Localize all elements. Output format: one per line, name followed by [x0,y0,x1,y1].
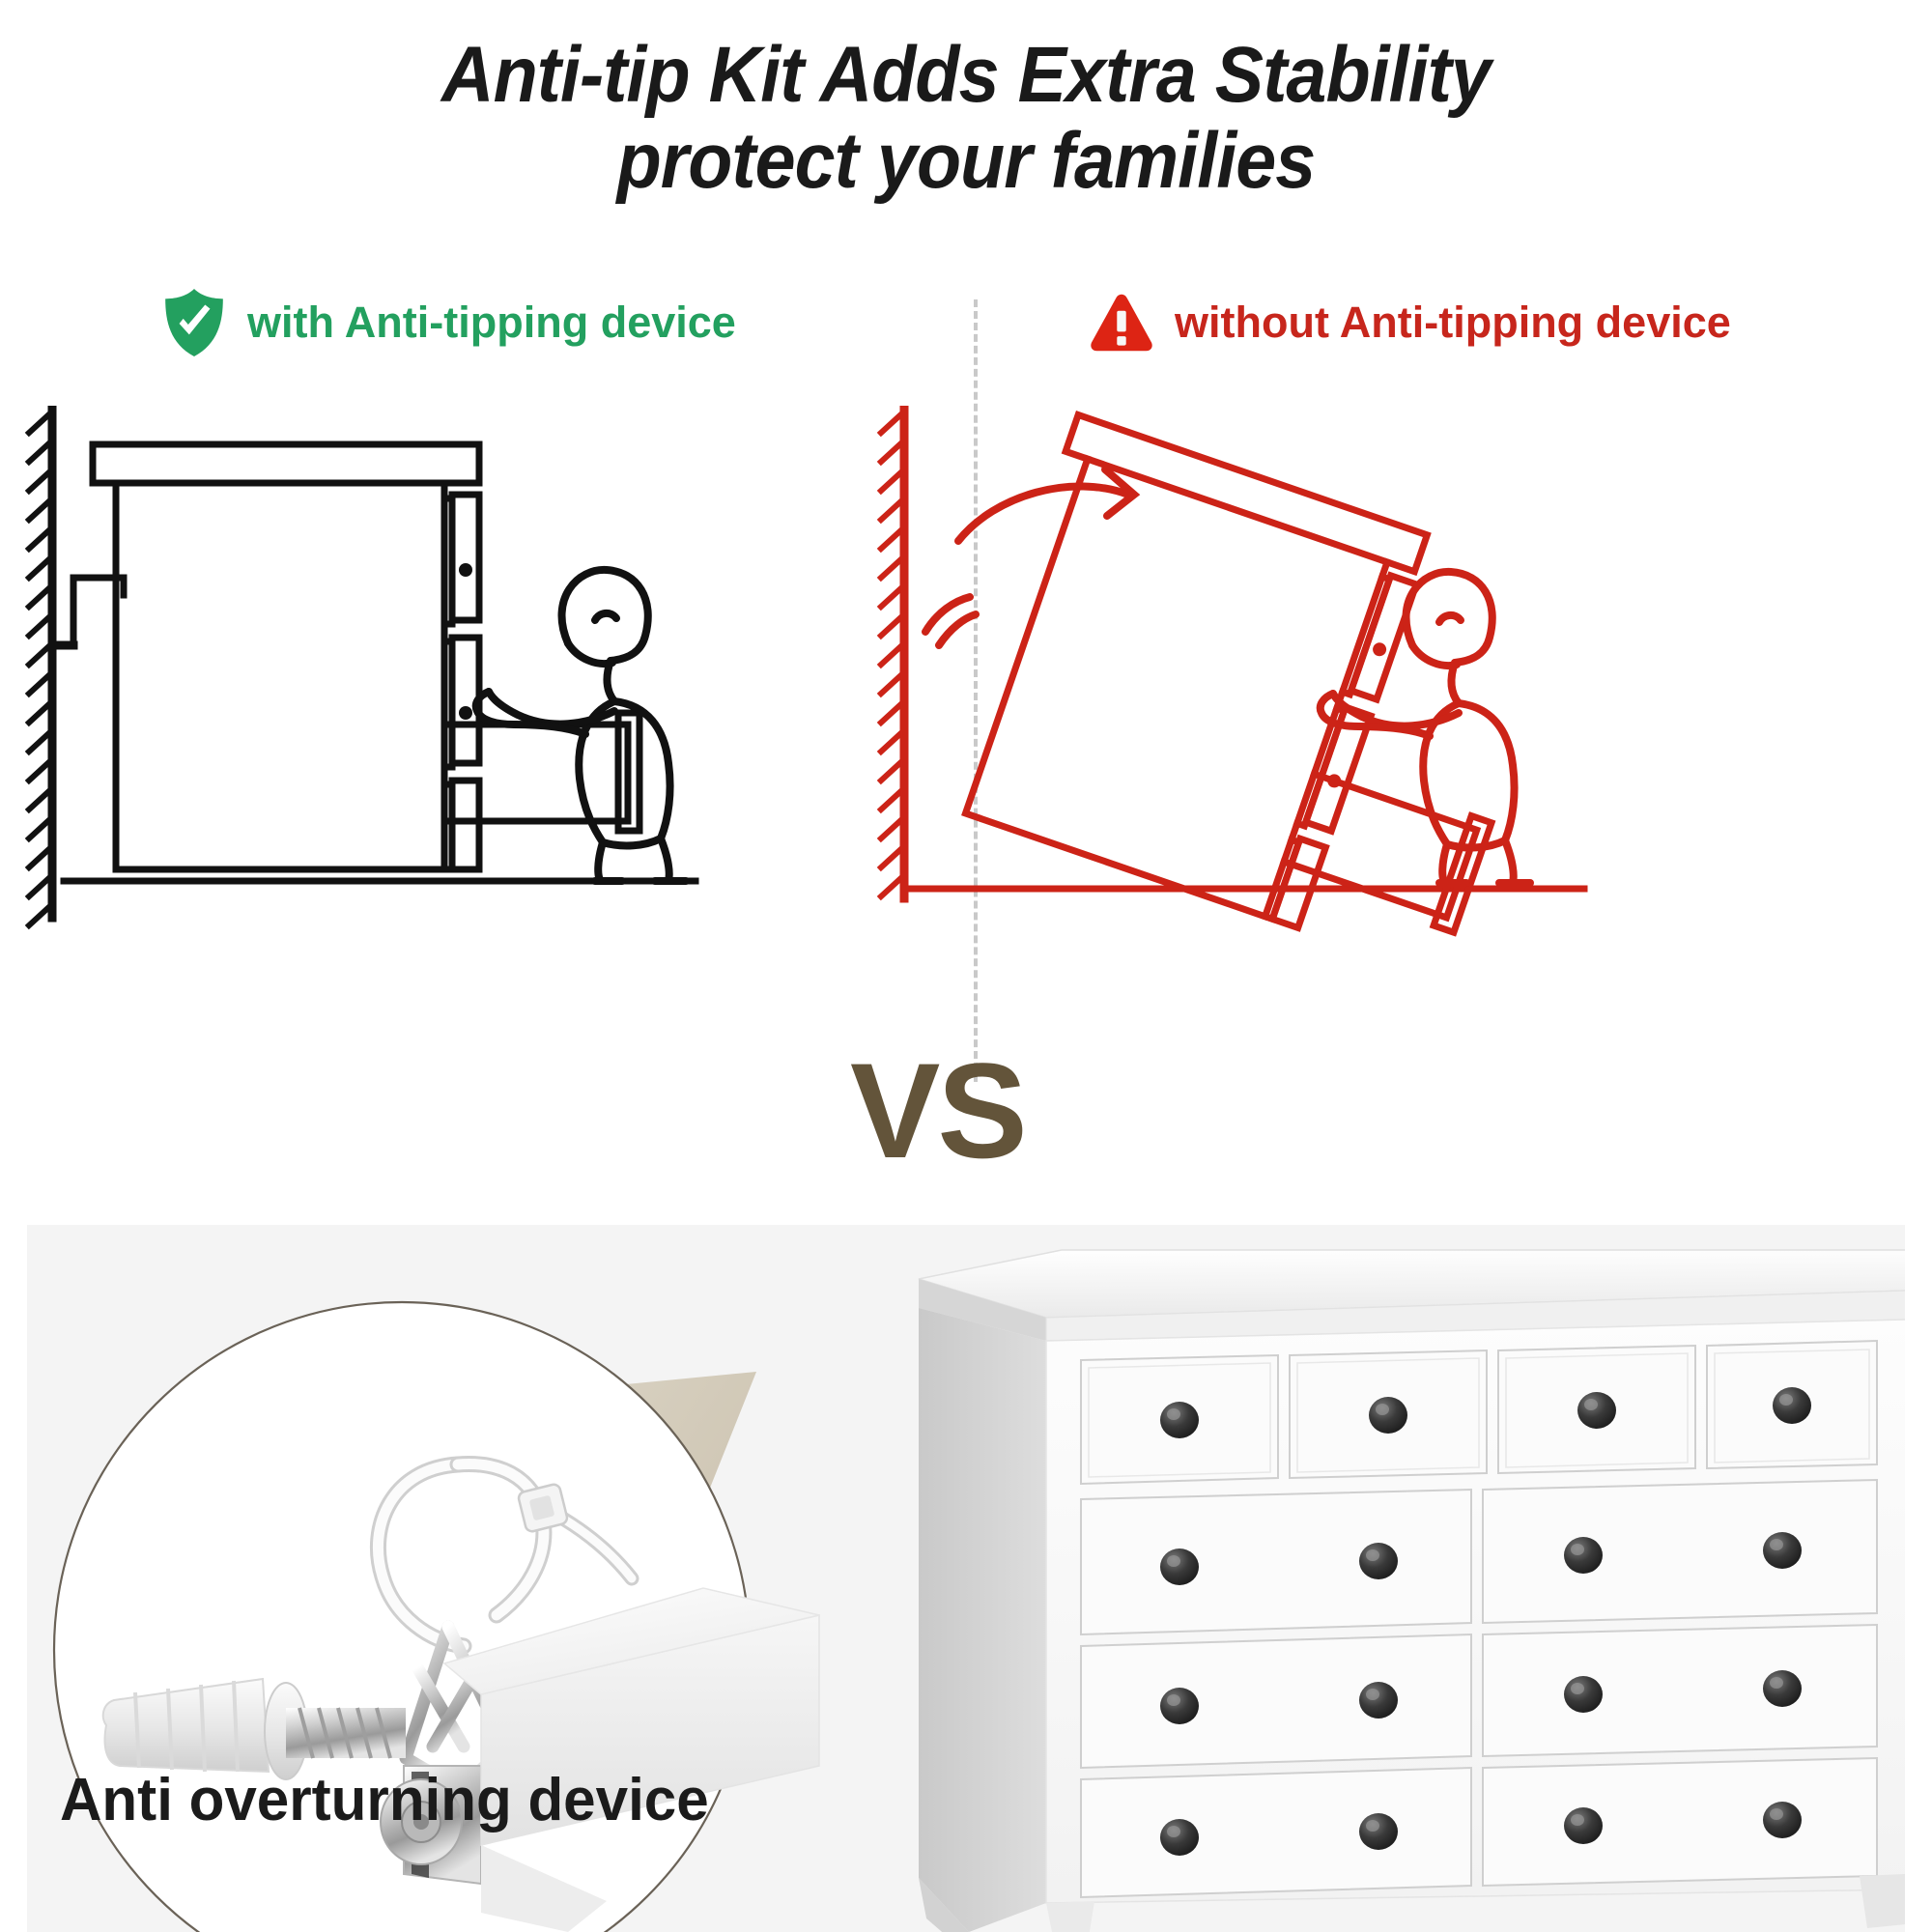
anchored-dresser-illustration [19,406,715,947]
warning-triangle-icon [1090,288,1153,357]
drawer [1483,1758,1877,1886]
knob [1160,1402,1199,1438]
drawer [1081,1634,1471,1768]
comparison-label-row: with Anti-tipping device without Anti-ti… [0,288,1932,381]
knob [1564,1537,1603,1574]
knob [1359,1682,1398,1719]
comparison-area: VS [0,406,1932,1227]
dresser [919,1250,1905,1932]
title-line-2: protect your families [77,119,1855,205]
knob [1577,1392,1616,1429]
detail-caption: Anti overturning device [60,1766,709,1834]
shield-check-icon [162,288,226,357]
drawer [1483,1625,1877,1756]
knob [1763,1802,1802,1838]
infographic-page: Anti-tip Kit Adds Extra Stability protec… [0,0,1932,1932]
knob [1160,1548,1199,1585]
drawer [1081,1490,1471,1634]
tipping-dresser-illustration [869,406,1604,947]
knob [1564,1807,1603,1844]
knob [1160,1819,1199,1856]
drawer [1483,1480,1877,1623]
page-title: Anti-tip Kit Adds Extra Stability protec… [0,33,1932,204]
knob [1564,1676,1603,1713]
knob [1763,1670,1802,1707]
without-device-label-group: without Anti-tipping device [1090,288,1731,357]
with-device-label: with Anti-tipping device [247,298,736,348]
knob [1763,1532,1802,1569]
drawer [1081,1768,1471,1897]
knob [1359,1813,1398,1850]
vs-label: VS [850,1043,1025,1179]
knob [1160,1688,1199,1724]
knob [1359,1543,1398,1579]
knob [1369,1397,1407,1434]
without-device-label: without Anti-tipping device [1175,298,1731,348]
with-device-label-group: with Anti-tipping device [162,288,736,357]
knob [1773,1387,1811,1424]
title-line-1: Anti-tip Kit Adds Extra Stability [77,33,1855,119]
